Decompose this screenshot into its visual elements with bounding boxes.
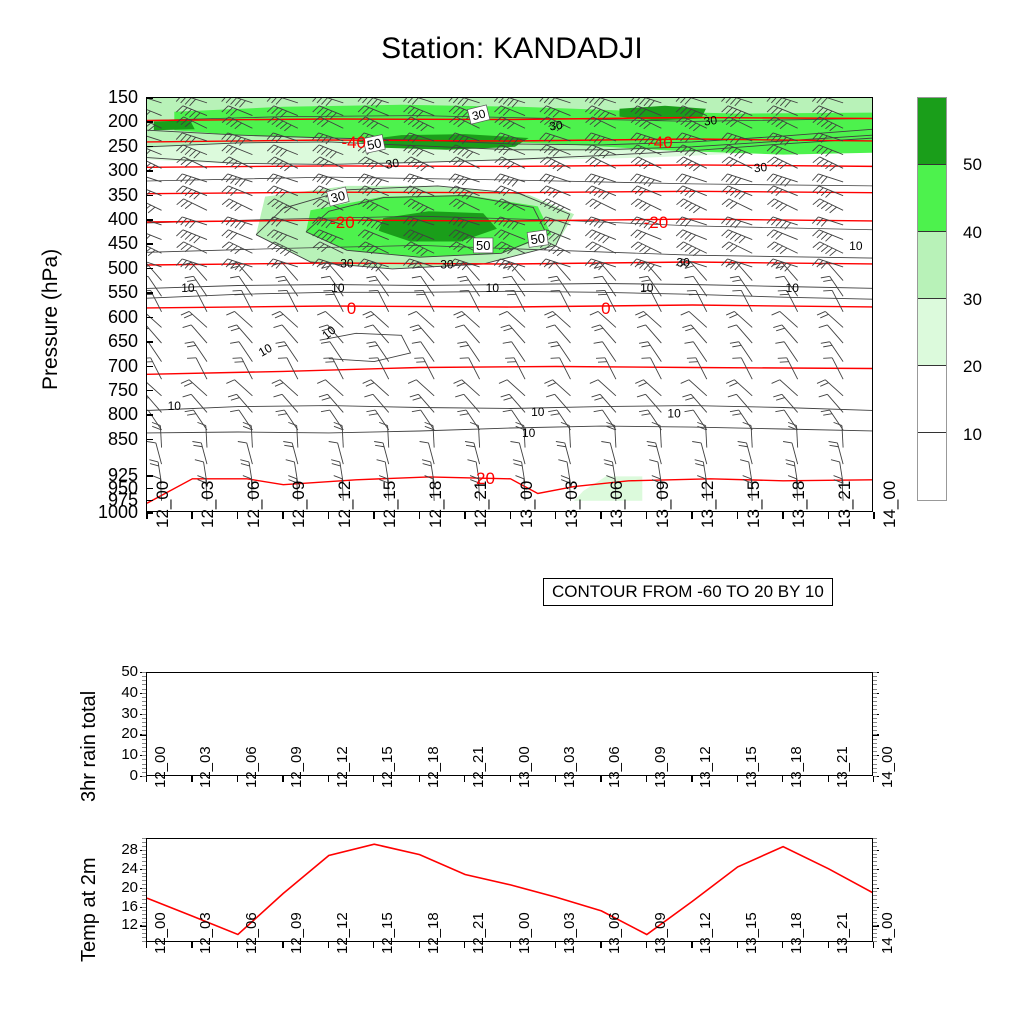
contour-label: 30 [548, 118, 563, 134]
panel-y-minor-tick [142, 857, 146, 858]
panel-y-minor-tick [873, 743, 877, 744]
panel-y-minor-tick [873, 910, 877, 911]
panel-y-minor-tick [142, 876, 146, 877]
panel-y-minor-tick [873, 730, 877, 731]
wind-barb [817, 380, 843, 396]
colorbar-band [918, 366, 946, 433]
panel-time-tick-label: 13_15 [743, 912, 760, 954]
time-tick-mark [328, 512, 330, 519]
wind-barb [834, 422, 844, 447]
pressure-tick-mark [146, 97, 153, 99]
wind-barb [321, 410, 343, 430]
wind-barb [812, 217, 843, 227]
panel-y-minor-tick [142, 759, 146, 760]
contour-line [147, 284, 873, 289]
contour-label: 10 [522, 426, 536, 440]
panel-y-minor-tick [142, 705, 146, 706]
contour-label: -40 [648, 133, 673, 152]
wind-barb [358, 174, 389, 186]
panel-x-tick-mark [646, 942, 647, 948]
panel-y-minor-tick [142, 722, 146, 723]
pressure-tick-label: 150 [78, 88, 138, 106]
wind-barb [152, 422, 162, 447]
wind-barb [767, 186, 798, 196]
wind-barb [743, 422, 753, 447]
wind-barb [147, 199, 162, 213]
wind-barb [455, 325, 479, 343]
panel-y-minor-tick [142, 764, 146, 765]
contour-label: 30 [676, 255, 690, 269]
panel-y-minor-tick [142, 891, 146, 892]
wind-barb [410, 394, 434, 412]
wind-barb [412, 410, 434, 430]
panel-x-tick-mark [782, 942, 783, 948]
wind-barb [267, 174, 298, 184]
wind-barb [501, 394, 525, 412]
panel-y-minor-tick [873, 873, 877, 874]
wind-barb [592, 325, 616, 343]
panel-time-tick-label: 13_06 [606, 912, 623, 954]
panel-time-tick-label: 12_12 [334, 746, 351, 788]
page-title: Station: KANDADJI [0, 32, 1024, 66]
wind-barb [728, 325, 752, 343]
contour-label: 0 [347, 299, 356, 318]
wind-barb [272, 311, 298, 327]
wind-barb [177, 199, 207, 210]
pressure-tick-label: 800 [78, 405, 138, 423]
pressure-tick-mark [146, 475, 153, 477]
wind-barb [677, 157, 707, 171]
contour-note: CONTOUR FROM -60 TO 20 BY 10 [543, 578, 833, 606]
pressure-tick-label: 500 [78, 259, 138, 277]
time-tick-mark [237, 512, 239, 519]
panel-x-tick-mark [419, 942, 420, 948]
wind-barb [767, 157, 797, 169]
pressure-tick-mark [146, 488, 153, 490]
contour-line [147, 426, 873, 433]
pressure-tick-mark [146, 195, 153, 197]
wind-barb [222, 174, 253, 186]
panel-y-minor-tick [873, 722, 877, 723]
panel-y-minor-tick [873, 857, 877, 858]
wind-barb [454, 380, 480, 396]
wind-barb [773, 325, 797, 343]
wind-barb [278, 358, 298, 379]
panel-y-minor-tick [142, 743, 146, 744]
wind-barb [676, 217, 707, 227]
panel-time-tick-label: 13_00 [516, 746, 533, 788]
panel-x-tick-mark [464, 776, 465, 782]
panel-x-tick-mark [873, 942, 874, 948]
time-tick-mark [373, 512, 375, 519]
wind-barb [561, 422, 571, 447]
rain-panel-title: 3hr rain total [78, 691, 101, 802]
wind-barb [363, 380, 389, 396]
contour-label: -20 [330, 213, 355, 232]
wind-barb [187, 358, 207, 379]
panel-y-minor-tick [142, 925, 146, 926]
wind-barb [817, 311, 843, 327]
wind-barb [226, 380, 252, 396]
wind-barb [501, 325, 525, 343]
panel-y-minor-tick [873, 701, 877, 702]
pressure-tick-mark [146, 500, 153, 502]
panel-x-tick-mark [328, 776, 329, 782]
contour-label: 10 [256, 341, 275, 360]
wind-barb [585, 259, 616, 270]
wind-barb [682, 325, 706, 343]
contour-label: 30 [703, 113, 718, 129]
panel-y-minor-tick [873, 676, 877, 677]
panel-y-minor-tick [873, 895, 877, 896]
panel-x-tick-mark [191, 776, 192, 782]
panel-y-minor-tick [142, 838, 146, 839]
time-tick-label: 12_09 [289, 481, 309, 528]
pressure-tick-mark [146, 439, 153, 441]
pressure-tick-mark [146, 341, 153, 343]
panel-y-minor-tick [142, 910, 146, 911]
colorbar-tick-label: 10 [963, 426, 982, 443]
pressure-tick-label: 600 [78, 308, 138, 326]
contour-label: -40 [341, 133, 366, 152]
panel-time-tick-label: 12_03 [197, 912, 214, 954]
panel-y-minor-tick [873, 937, 877, 938]
time-tick-label: 13_12 [698, 481, 718, 528]
wind-barb [730, 410, 752, 430]
panel-x-tick-mark [464, 942, 465, 948]
wind-barb [505, 290, 525, 311]
panel-time-tick-label: 13_03 [561, 912, 578, 954]
panel-x-tick-mark [282, 942, 283, 948]
wind-barb [273, 394, 297, 412]
pressure-tick-mark [146, 390, 153, 392]
contour-label: 10 [168, 399, 182, 413]
wind-barb [631, 174, 662, 186]
time-tick-label: 12_00 [153, 481, 173, 528]
time-tick-label: 12_15 [380, 481, 400, 528]
panel-x-tick-mark [873, 776, 874, 782]
panel-y-minor-tick [873, 759, 877, 760]
panel-y-minor-tick [142, 933, 146, 934]
wind-barb [676, 230, 707, 241]
wind-barb [363, 311, 389, 327]
wind-barb [222, 242, 252, 254]
wind-barb [546, 394, 570, 412]
wind-barb [728, 394, 752, 412]
wind-barb [288, 422, 298, 447]
wind-barb [410, 325, 434, 343]
wind-barb [364, 394, 388, 412]
panel-y-minor-tick [142, 718, 146, 719]
wind-barb [408, 380, 434, 396]
wind-barb [677, 199, 707, 213]
wind-barb [813, 230, 844, 241]
time-tick-label: 13_18 [789, 481, 809, 528]
wind-barb [813, 157, 843, 171]
wind-barb [631, 157, 661, 169]
wind-barb [499, 311, 525, 327]
wind-barb [147, 342, 162, 362]
wind-barb [687, 290, 707, 311]
panel-time-tick-label: 13_03 [561, 746, 578, 788]
wind-barb [551, 290, 571, 311]
time-tick-mark [782, 512, 784, 519]
panel-y-minor-tick [142, 672, 146, 673]
wind-barb [722, 157, 752, 168]
wind-barb [721, 259, 752, 270]
wind-barb [183, 394, 207, 412]
wind-barb [682, 394, 706, 412]
panel-time-tick-label: 13_21 [834, 912, 851, 954]
panel-x-tick-mark [555, 942, 556, 948]
wind-barb [505, 358, 525, 379]
panel-y-minor-tick [142, 869, 146, 870]
wind-barb [788, 422, 798, 447]
panel-x-tick-mark [782, 776, 783, 782]
colorbar-band [918, 165, 946, 232]
wind-barb [590, 380, 616, 396]
panel-y-minor-tick [873, 854, 877, 855]
panel-y-minor-tick [873, 880, 877, 881]
panel-x-tick-mark [237, 942, 238, 948]
wind-barb [732, 358, 752, 379]
wind-barb [503, 276, 525, 296]
panel-y-minor-tick [142, 747, 146, 748]
wind-barb [185, 410, 207, 430]
cross-section-plot-area: 5050503030303030303030303030101010101010… [146, 97, 873, 512]
time-tick-mark [191, 512, 193, 519]
panel-y-minor-tick [873, 891, 877, 892]
wind-barb [641, 358, 661, 379]
wind-barb [176, 186, 207, 199]
contour-line [147, 291, 873, 299]
pressure-tick-mark [146, 414, 153, 416]
panel-y-minor-tick [873, 914, 877, 915]
contour-label: 10 [640, 281, 654, 295]
panel-y-minor-tick [873, 680, 877, 681]
wind-barb [631, 242, 661, 254]
time-tick-mark [464, 512, 466, 519]
wind-barb [592, 394, 616, 412]
time-tick-label: 13_06 [607, 481, 627, 528]
wind-barb [821, 410, 843, 430]
panel-y-minor-tick [873, 751, 877, 752]
time-tick-mark [737, 512, 739, 519]
panel-y-minor-tick [873, 697, 877, 698]
wind-barb [540, 174, 571, 184]
wind-barb [457, 410, 479, 430]
panel-time-tick-label: 14_00 [879, 746, 896, 788]
time-tick-label: 13_15 [744, 481, 764, 528]
panel-x-tick-mark [328, 942, 329, 948]
panel-y-minor-tick [873, 672, 877, 673]
panel-y-minor-tick [873, 764, 877, 765]
wind-barb [273, 325, 297, 343]
wind-barb [228, 394, 252, 412]
wind-barb [586, 157, 616, 168]
pressure-tick-label: 850 [78, 430, 138, 448]
panel-y-minor-tick [142, 899, 146, 900]
panel-y-minor-tick [142, 676, 146, 677]
panel-x-tick-mark [510, 942, 511, 948]
wind-barb [546, 325, 570, 343]
panel-y-minor-tick [873, 772, 877, 773]
wind-barb [681, 380, 707, 396]
panel-y-minor-tick [142, 751, 146, 752]
wind-barb [454, 311, 480, 327]
panel-time-tick-label: 13_09 [652, 912, 669, 954]
wind-barb [425, 422, 435, 447]
wind-barb [677, 242, 707, 256]
panel-time-tick-label: 12_21 [470, 912, 487, 954]
wind-barb [551, 358, 571, 379]
panel-x-tick-mark [146, 942, 147, 948]
wind-barb [767, 230, 798, 240]
time-tick-label: 12_18 [426, 481, 446, 528]
panel-y-minor-tick [873, 718, 877, 719]
panel-y-minor-tick [142, 846, 146, 847]
colorbar-tick-label: 30 [963, 291, 982, 308]
panel-x-tick-mark [691, 776, 692, 782]
wind-barb [594, 410, 616, 430]
wind-barb [379, 422, 389, 447]
panel-y-minor-tick [142, 850, 146, 851]
time-tick-mark [146, 512, 148, 519]
pressure-tick-label: 200 [78, 112, 138, 130]
pressure-tick-mark [146, 366, 153, 368]
colorbar-band [918, 299, 946, 366]
time-tick-label: 13_03 [562, 481, 582, 528]
panel-y-minor-tick [142, 709, 146, 710]
panel-y-minor-tick [873, 693, 877, 694]
panel-y-minor-tick [142, 895, 146, 896]
wind-barb [722, 230, 753, 243]
wind-barb [726, 311, 752, 327]
pressure-tick-mark [146, 292, 153, 294]
wind-barb [721, 174, 752, 185]
wind-barb [812, 174, 843, 184]
wind-barb [147, 358, 162, 379]
panel-y-minor-tick [873, 755, 877, 756]
wind-barb [369, 290, 389, 311]
wind-barb [676, 174, 707, 184]
panel-y-minor-tick [142, 888, 146, 889]
wind-barb [147, 174, 162, 184]
pressure-tick-mark [146, 121, 153, 123]
wind-barb [499, 380, 525, 396]
panel-y-minor-tick [142, 734, 146, 735]
panel-y-minor-tick [142, 861, 146, 862]
wind-barb [230, 410, 252, 430]
wind-barb [228, 325, 252, 343]
wind-barb [176, 230, 207, 243]
wind-barb [222, 199, 252, 211]
panel-x-tick-mark [646, 776, 647, 782]
panel-y-minor-tick [873, 907, 877, 908]
wind-barb [457, 276, 479, 296]
panel-y-minor-tick [142, 884, 146, 885]
wind-barb [594, 276, 616, 296]
colorbar-band [918, 433, 946, 500]
wind-barb [596, 358, 616, 379]
colorbar-band [918, 98, 946, 165]
panel-time-tick-label: 12_00 [152, 746, 169, 788]
panel-y-minor-tick [142, 684, 146, 685]
wind-barb [147, 380, 162, 396]
wind-barb [147, 394, 162, 412]
wind-barb [635, 311, 661, 327]
time-tick-label: 12_21 [471, 481, 491, 528]
wind-barb [408, 311, 434, 327]
wind-barb [272, 380, 298, 396]
wind-barb [230, 276, 252, 296]
contour-line [147, 406, 873, 411]
panel-y-minor-tick [142, 929, 146, 930]
panel-time-tick-label: 13_12 [697, 912, 714, 954]
panel-y-minor-tick [873, 903, 877, 904]
wind-barb [243, 422, 253, 447]
time-tick-label: 13_09 [653, 481, 673, 528]
colorbar-tick-label: 50 [963, 156, 982, 173]
time-tick-mark [600, 512, 602, 519]
time-tick-label: 12_12 [335, 481, 355, 528]
time-tick-label: 12_06 [244, 481, 264, 528]
panel-time-tick-label: 13_21 [834, 746, 851, 788]
wind-barb [183, 325, 207, 343]
panel-y-minor-tick [142, 689, 146, 690]
panel-y-minor-tick [873, 846, 877, 847]
time-tick-mark [282, 512, 284, 519]
panel-y-minor-tick [873, 922, 877, 923]
wind-barb [414, 290, 434, 311]
panel-y-minor-tick [873, 861, 877, 862]
contour-label: 50 [366, 135, 383, 153]
wind-barb [412, 276, 434, 296]
wind-barb [181, 311, 207, 327]
panel-y-minor-tick [142, 772, 146, 773]
panel-y-minor-tick [873, 709, 877, 710]
wind-barb [637, 394, 661, 412]
panel-y-minor-tick [873, 689, 877, 690]
pressure-tick-label: 650 [78, 332, 138, 350]
wind-barb [813, 199, 843, 213]
colorbar-tick-label: 20 [963, 358, 982, 375]
time-tick-mark [510, 512, 512, 519]
wind-barb [722, 242, 752, 253]
wind-barb [652, 422, 662, 447]
time-tick-label: 13_00 [517, 481, 537, 528]
panel-time-tick-label: 12_18 [425, 912, 442, 954]
time-tick-mark [646, 512, 648, 519]
panel-x-tick-mark [737, 942, 738, 948]
contour-label: 10 [786, 281, 800, 295]
wind-barb [767, 242, 797, 254]
panel-x-tick-mark [600, 942, 601, 948]
panel-x-tick-mark [600, 776, 601, 782]
colorbar-band [918, 232, 946, 299]
wind-barb [772, 311, 798, 327]
panel-time-tick-label: 12_21 [470, 746, 487, 788]
contour-label: 50 [476, 238, 490, 253]
panel-y-minor-tick [873, 869, 877, 870]
panel-x-tick-mark [510, 776, 511, 782]
wind-barb [544, 380, 570, 396]
wind-barb [772, 380, 798, 396]
contour-label: 10 [331, 281, 345, 295]
contour-label: 30 [340, 256, 354, 270]
temp-tick-label: 28 [92, 842, 138, 857]
pressure-tick-mark [146, 243, 153, 245]
